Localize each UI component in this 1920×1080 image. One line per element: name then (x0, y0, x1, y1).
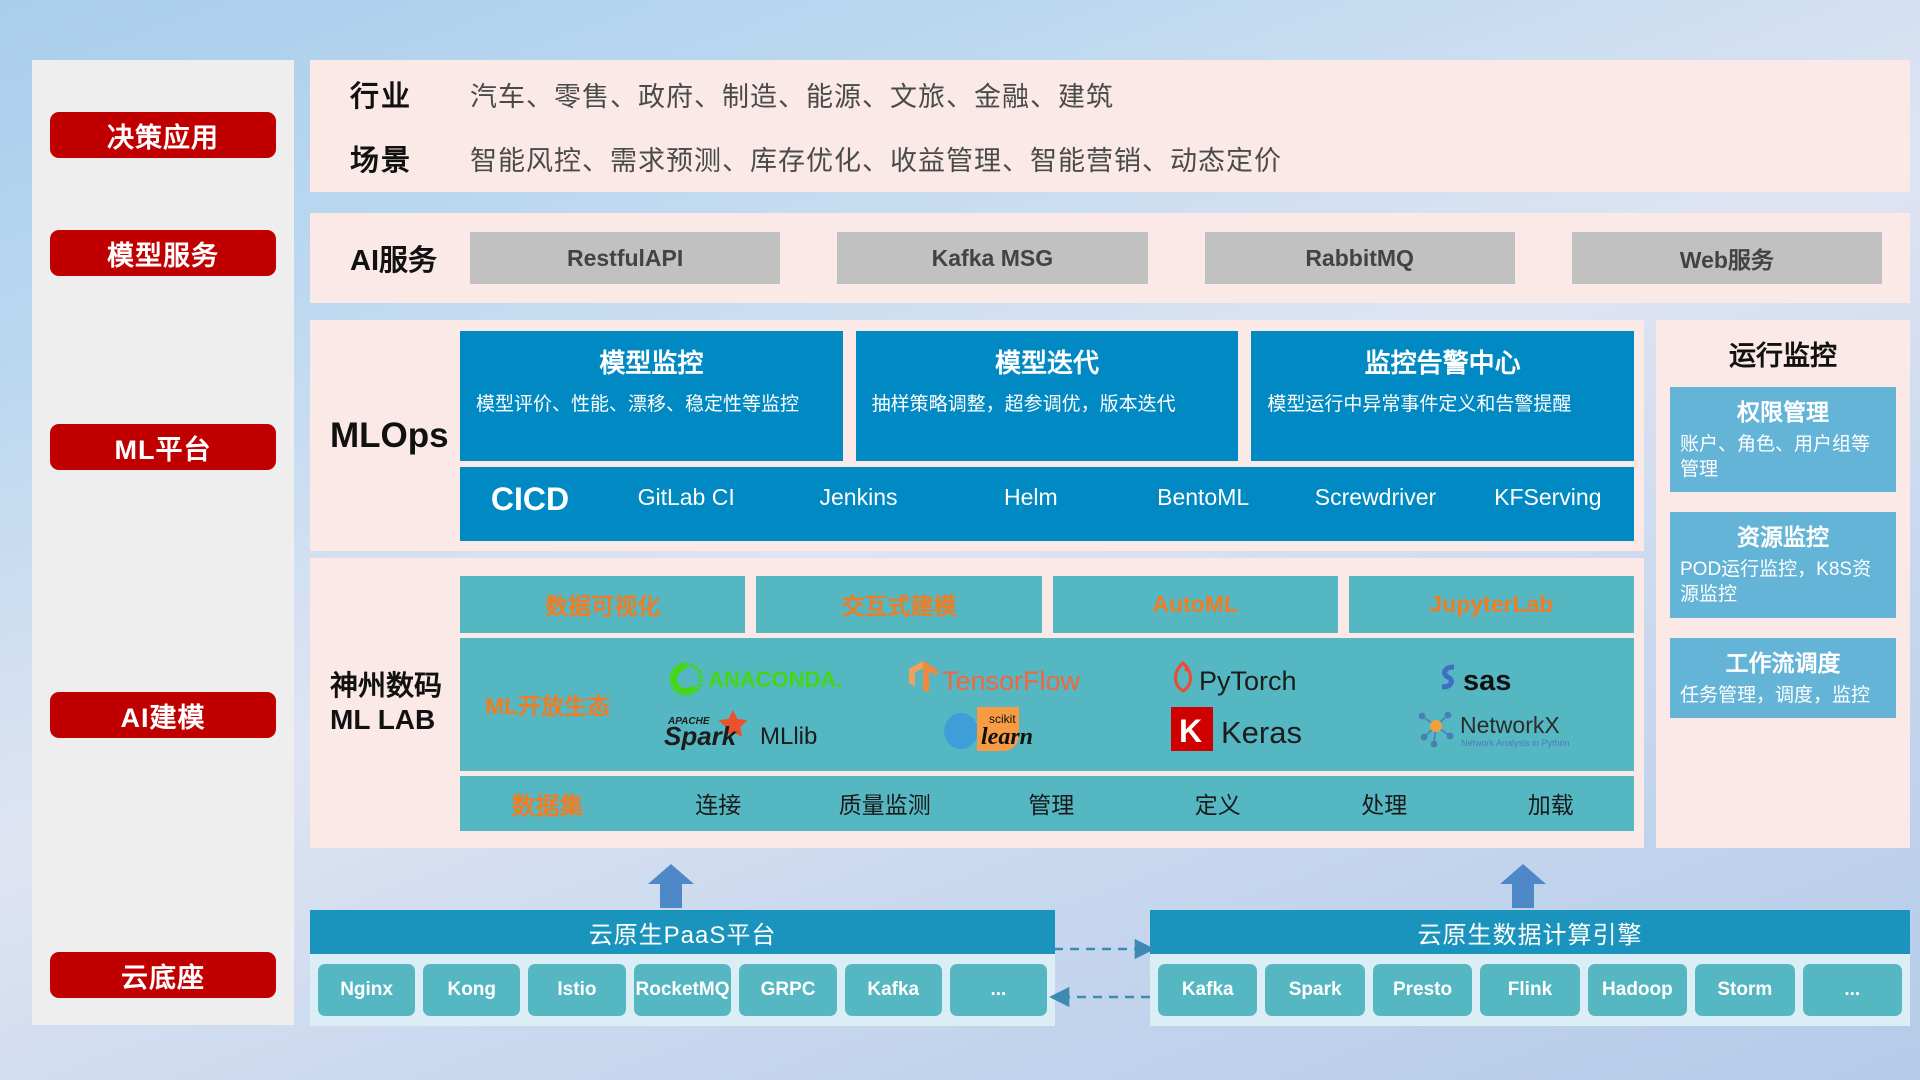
ai-service-box-restfulapi[interactable]: RestfulAPI (470, 232, 780, 284)
svg-text:Network Analysis in Python: Network Analysis in Python (1461, 738, 1570, 748)
cicd-item-gitlab-ci[interactable]: GitLab CI (600, 481, 772, 514)
engine-chip-presto[interactable]: Presto (1373, 964, 1472, 1016)
ml-lab-label-line1: 神州数码 (330, 669, 460, 703)
runtime-monitor-panel: 运行监控 权限管理 账户、角色、用户组等管理 资源监控 POD运行监控，K8S资… (1656, 320, 1910, 848)
card-desc: POD运行监控，K8S资源监控 (1680, 558, 1886, 607)
card-desc: 模型运行中异常事件定义和告警提醒 (1267, 392, 1618, 418)
rail-label: ML平台 (115, 428, 212, 467)
mlops-card-model-iteration[interactable]: 模型迭代 抽样策略调整，超参调优，版本迭代 (856, 331, 1239, 461)
spark-mllib-logo: APACHE Spark MLlib (660, 708, 860, 750)
cicd-item-bentoml[interactable]: BentoML (1117, 481, 1289, 514)
dataset-item-management[interactable]: 管理 (968, 786, 1135, 820)
up-arrow-icon-paas (648, 864, 694, 908)
engine-chip-more[interactable]: ... (1803, 964, 1902, 1016)
monitor-title: 运行监控 (1670, 334, 1896, 373)
rail-item-ml-platform[interactable]: ML平台 (50, 424, 276, 470)
rail-item-ai-modeling[interactable]: AI建模 (50, 692, 276, 738)
ai-service-box-rabbitmq[interactable]: RabbitMQ (1205, 232, 1515, 284)
cicd-title: CICD (460, 481, 600, 518)
cloud-data-engine-title: 云原生数据计算引擎 (1150, 910, 1910, 954)
svg-text:K: K (1179, 713, 1202, 749)
dataset-item-quality-monitoring[interactable]: 质量监测 (802, 786, 969, 820)
card-desc: 账户、角色、用户组等管理 (1680, 433, 1886, 482)
lab-tool-automl[interactable]: AutoML (1053, 576, 1338, 633)
ml-lab-label-line2: ML LAB (330, 703, 460, 737)
rail-label: 云底座 (121, 956, 205, 995)
anaconda-logo: ANACONDA. (667, 660, 852, 698)
cicd-item-screwdriver[interactable]: Screwdriver (1289, 481, 1461, 514)
dataset-item-processing[interactable]: 处理 (1301, 786, 1468, 820)
keras-logo: K Keras (1169, 705, 1349, 753)
svg-text:ANACONDA.: ANACONDA. (708, 667, 842, 692)
paas-chip-more[interactable]: ... (950, 964, 1047, 1016)
lab-tool-data-visualization[interactable]: 数据可视化 (460, 576, 745, 633)
card-title: 资源监控 (1680, 518, 1886, 552)
rail-item-cloud-base[interactable]: 云底座 (50, 952, 276, 998)
lab-tool-jupyterlab[interactable]: JupyterLab (1349, 576, 1634, 633)
engine-chip-storm[interactable]: Storm (1695, 964, 1794, 1016)
paas-chip-istio[interactable]: Istio (528, 964, 625, 1016)
cicd-item-helm[interactable]: Helm (945, 481, 1117, 514)
svg-text:TensorFlow: TensorFlow (942, 666, 1081, 696)
scenario-row: 场景 智能风控、需求预测、库存优化、收益管理、智能营销、动态定价 (350, 137, 1910, 179)
mlops-label: MLOps (330, 416, 460, 456)
ai-service-box-list: RestfulAPI Kafka MSG RabbitMQ Web服务 (470, 232, 1910, 284)
bidirectional-dashed-connectors (1040, 935, 1210, 1035)
scikit-learn-logo: scikit learn (925, 704, 1095, 754)
networkx-logo: NetworkX Network Analysis in Python (1414, 706, 1604, 752)
ai-service-label: AI服务 (350, 237, 470, 279)
paas-chip-grpc[interactable]: GRPC (739, 964, 836, 1016)
svg-text:MLlib: MLlib (760, 723, 817, 750)
svg-text:PyTorch: PyTorch (1199, 666, 1297, 696)
mlops-card-model-monitoring[interactable]: 模型监控 模型评价、性能、漂移、稳定性等监控 (460, 331, 843, 461)
card-title: 模型监控 (476, 343, 827, 380)
card-title: 权限管理 (1680, 393, 1886, 427)
ml-lab-label: 神州数码 ML LAB (330, 669, 460, 736)
card-title: 工作流调度 (1680, 644, 1886, 678)
scenario-value: 智能风控、需求预测、库存优化、收益管理、智能营销、动态定价 (470, 139, 1282, 178)
svg-text:sas: sas (1463, 665, 1511, 697)
monitor-card-permission[interactable]: 权限管理 账户、角色、用户组等管理 (1670, 387, 1896, 492)
ai-service-box-web-service[interactable]: Web服务 (1572, 232, 1882, 284)
rail-label: 决策应用 (107, 116, 219, 155)
engine-chip-flink[interactable]: Flink (1480, 964, 1579, 1016)
card-title: 模型迭代 (872, 343, 1223, 380)
mlops-card-alert-center[interactable]: 监控告警中心 模型运行中异常事件定义和告警提醒 (1251, 331, 1634, 461)
dataset-label: 数据集 (460, 786, 635, 821)
cloud-paas-title: 云原生PaaS平台 (310, 910, 1055, 954)
monitor-card-resource[interactable]: 资源监控 POD运行监控，K8S资源监控 (1670, 512, 1896, 617)
rail-item-decision-apps[interactable]: 决策应用 (50, 112, 276, 158)
pytorch-logo: PyTorch (1169, 659, 1349, 699)
lab-tool-interactive-modeling[interactable]: 交互式建模 (756, 576, 1041, 633)
dataset-item-definition[interactable]: 定义 (1135, 786, 1302, 820)
ml-open-ecosystem: ML开放生态 ANACONDA. TensorFlow (460, 638, 1634, 771)
card-title: 监控告警中心 (1267, 343, 1618, 380)
dataset-item-loading[interactable]: 加载 (1468, 786, 1635, 820)
industry-row: 行业 汽车、零售、政府、制造、能源、文旅、金融、建筑 (350, 73, 1910, 115)
svg-text:learn: learn (981, 724, 1033, 750)
dataset-item-connect[interactable]: 连接 (635, 786, 802, 820)
engine-chip-hadoop[interactable]: Hadoop (1588, 964, 1687, 1016)
paas-chip-kafka[interactable]: Kafka (845, 964, 942, 1016)
mlops-panel: MLOps 模型监控 模型评价、性能、漂移、稳定性等监控 模型迭代 抽样策略调整… (310, 320, 1644, 551)
rail-label: 模型服务 (107, 234, 219, 273)
cicd-item-jenkins[interactable]: Jenkins (772, 481, 944, 514)
rail-item-model-service[interactable]: 模型服务 (50, 230, 276, 276)
cloud-data-engine-group: 云原生数据计算引擎 Kafka Spark Presto Flink Hadoo… (1150, 910, 1910, 1026)
cicd-item-kfserving[interactable]: KFServing (1462, 481, 1634, 514)
ai-service-box-kafka-msg[interactable]: Kafka MSG (837, 232, 1147, 284)
monitor-card-workflow[interactable]: 工作流调度 任务管理，调度，监控 (1670, 638, 1896, 719)
left-rail: 决策应用 模型服务 ML平台 AI建模 云底座 (32, 60, 294, 1025)
paas-chip-kong[interactable]: Kong (423, 964, 520, 1016)
eco-label: ML开放生态 (460, 687, 635, 721)
ml-lab-panel: 神州数码 ML LAB 数据可视化 交互式建模 AutoML JupyterLa… (310, 558, 1644, 848)
svg-text:NetworkX: NetworkX (1460, 712, 1560, 738)
decision-apps-panel: 行业 汽车、零售、政府、制造、能源、文旅、金融、建筑 场景 智能风控、需求预测、… (310, 60, 1910, 192)
industry-value: 汽车、零售、政府、制造、能源、文旅、金融、建筑 (470, 75, 1114, 114)
engine-chip-spark[interactable]: Spark (1265, 964, 1364, 1016)
svg-text:Spark: Spark (664, 721, 738, 750)
scenario-label: 场景 (350, 137, 470, 179)
card-desc: 模型评价、性能、漂移、稳定性等监控 (476, 392, 827, 418)
dataset-bar: 数据集 连接 质量监测 管理 定义 处理 加载 (460, 776, 1634, 831)
paas-chip-nginx[interactable]: Nginx (318, 964, 415, 1016)
svg-text:Keras: Keras (1221, 715, 1302, 750)
rail-label: AI建模 (121, 696, 206, 735)
ai-service-panel: AI服务 RestfulAPI Kafka MSG RabbitMQ Web服务 (310, 213, 1910, 303)
cloud-paas-group: 云原生PaaS平台 Nginx Kong Istio RocketMQ GRPC… (310, 910, 1055, 1026)
tensorflow-logo: TensorFlow (905, 659, 1115, 699)
paas-chip-rocketmq[interactable]: RocketMQ (634, 964, 732, 1016)
sas-logo: sas (1434, 659, 1584, 699)
card-desc: 抽样策略调整，超参调优，版本迭代 (872, 392, 1223, 418)
card-desc: 任务管理，调度，监控 (1680, 684, 1886, 709)
cicd-bar: CICD GitLab CI Jenkins Helm BentoML Scre… (460, 467, 1634, 541)
industry-label: 行业 (350, 73, 470, 115)
up-arrow-icon-data-engine (1500, 864, 1546, 908)
